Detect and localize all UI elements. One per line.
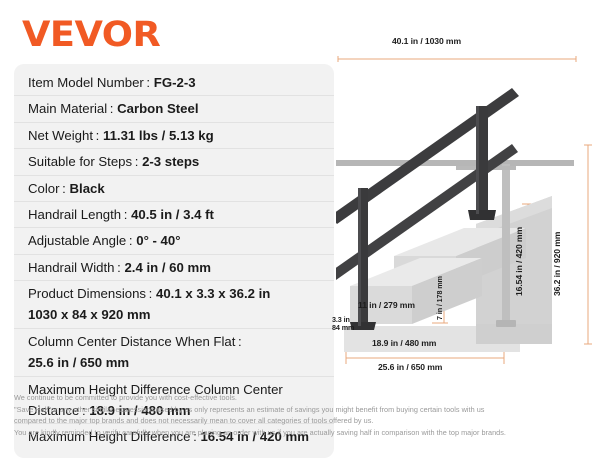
spec-row: Product Dimensions : 40.1 x 3.3 x 36.2 i… <box>14 281 334 329</box>
vevor-logo: VEVOR <box>22 18 160 53</box>
disclaimer-line: You are kindly reminded to verify carefu… <box>14 427 592 439</box>
spec-row: Column Center Distance When Flat : 25.6 … <box>14 329 334 377</box>
dim-overall-height: 36.2 in / 920 mm <box>552 232 562 296</box>
spec-value: 0° - 40° <box>136 233 180 248</box>
spec-label: Handrail Width : <box>28 260 121 275</box>
spec-label: Color : <box>28 181 66 196</box>
spec-value: 2.4 in / 60 mm <box>124 260 211 275</box>
dim-step-rise: 7 in / 178 mm <box>436 276 444 320</box>
dim-column-center-flat: 25.6 in / 650 mm <box>378 362 442 372</box>
spec-value: FG-2-3 <box>154 75 196 90</box>
spec-value: 11.31 lbs / 5.13 kg <box>103 128 214 143</box>
spec-label: Net Weight : <box>28 128 99 143</box>
spec-row: Adjustable Angle : 0° - 40° <box>14 228 334 254</box>
product-spec-image: VEVOR Item Model Number : FG-2-3 Main Ma… <box>0 0 600 450</box>
spec-value-continuation: 1030 x 84 x 920 mm <box>28 304 322 325</box>
disclaimer-line: compared to the major top brands and doe… <box>14 415 592 427</box>
spec-label: Suitable for Steps : <box>28 154 138 169</box>
spec-label: Main Material : <box>28 101 113 116</box>
disclaimer-line: "Save Half"or any other similar expressi… <box>14 404 592 416</box>
spec-row: Handrail Length : 40.5 in / 3.4 ft <box>14 202 334 228</box>
handrail-diagram-svg <box>336 28 600 384</box>
spec-value: Black <box>70 181 105 196</box>
dim-base-width-mm: 84 mm <box>332 324 354 332</box>
spec-row: Net Weight : 11.31 lbs / 5.13 kg <box>14 123 334 149</box>
spec-value: 2-3 steps <box>142 154 199 169</box>
spec-value: Carbon Steel <box>117 101 198 116</box>
spec-label: Handrail Length : <box>28 207 127 222</box>
spec-label: Adjustable Angle : <box>28 233 133 248</box>
spec-value: 40.5 in / 3.4 ft <box>131 207 214 222</box>
dim-post-height: 16.54 in / 420 mm <box>514 227 524 296</box>
spec-row: Color : Black <box>14 176 334 202</box>
spec-value-continuation: 25.6 in / 650 mm <box>28 352 322 373</box>
disclaimer-line: We continue to be committed to provide y… <box>14 392 592 404</box>
spec-label: Item Model Number : <box>28 75 150 90</box>
dim-overall-length: 40.1 in / 1030 mm <box>392 36 461 46</box>
dim-column-center-distance: 18.9 in / 480 mm <box>372 338 436 348</box>
dim-step-run: 11 in / 279 mm <box>358 300 415 310</box>
spec-row: Handrail Width : 2.4 in / 60 mm <box>14 255 334 281</box>
spec-row: Main Material : Carbon Steel <box>14 96 334 122</box>
spec-label: Product Dimensions : <box>28 286 152 301</box>
spec-row: Suitable for Steps : 2-3 steps <box>14 149 334 175</box>
disclaimer-text: We continue to be committed to provide y… <box>14 392 592 438</box>
technical-drawing: 40.1 in / 1030 mm 36.2 in / 920 mm 16.54… <box>336 28 600 384</box>
spec-label: Column Center Distance When Flat : <box>28 334 242 349</box>
spec-value: 40.1 x 3.3 x 36.2 in <box>156 286 270 301</box>
spec-row: Item Model Number : FG-2-3 <box>14 70 334 96</box>
